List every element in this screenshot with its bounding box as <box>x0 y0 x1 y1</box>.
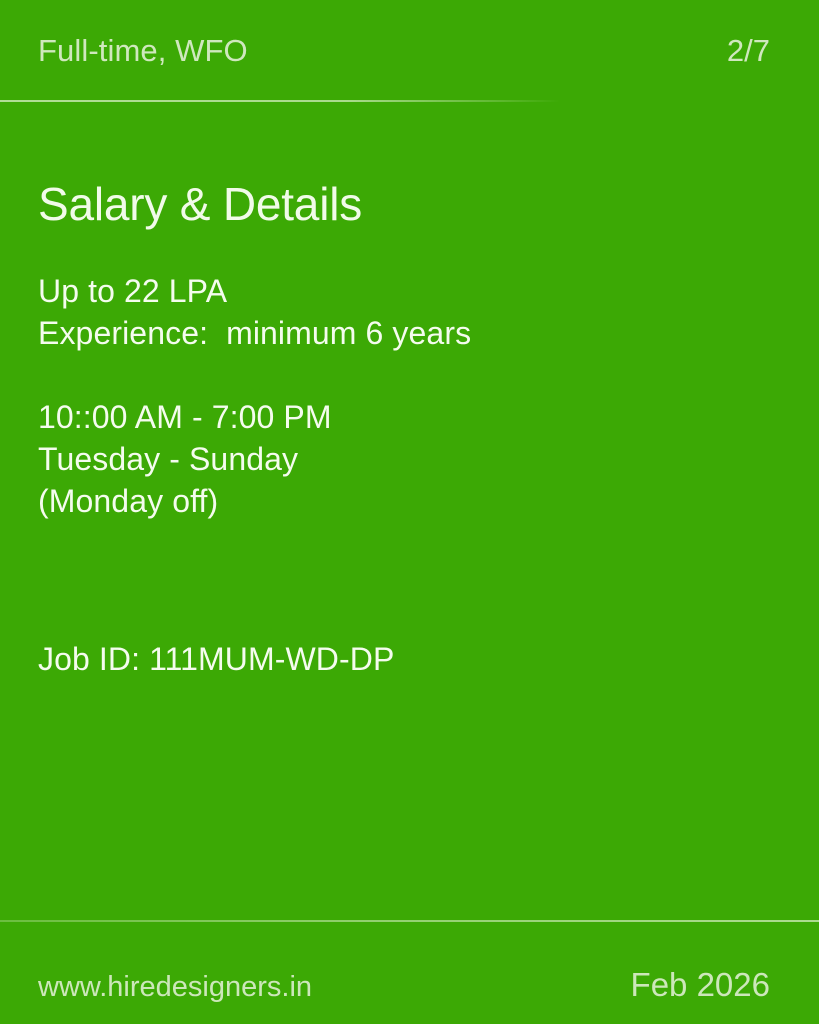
footer-website[interactable]: www.hiredesigners.in <box>38 968 312 1006</box>
slide-content: Salary & Details Up to 22 LPA Experience… <box>38 102 819 920</box>
job-id-line: Job ID: 111MUM-WD-DP <box>38 638 394 680</box>
slide-counter: 2/7 <box>727 30 770 72</box>
working-hours-line: 10::00 AM - 7:00 PM <box>38 396 332 438</box>
page-title: Salary & Details <box>38 176 362 232</box>
footer-divider <box>0 920 819 922</box>
salary-amount-line: Up to 22 LPA <box>38 270 471 312</box>
experience-line: Experience: minimum 6 years <box>38 312 471 354</box>
salary-block: Up to 22 LPA Experience: minimum 6 years <box>38 270 471 354</box>
schedule-block: 10::00 AM - 7:00 PM Tuesday - Sunday (Mo… <box>38 396 332 522</box>
weekly-off-line: (Monday off) <box>38 480 332 522</box>
working-days-line: Tuesday - Sunday <box>38 438 332 480</box>
slide-footer: www.hiredesigners.in Feb 2026 <box>0 920 819 1024</box>
slide-header: Full-time, WFO 2/7 <box>0 0 819 102</box>
slide: Full-time, WFO 2/7 Salary & Details Up t… <box>0 0 819 1024</box>
job-id-block: Job ID: 111MUM-WD-DP <box>38 638 394 680</box>
footer-date: Feb 2026 <box>631 964 770 1006</box>
header-employment-type: Full-time, WFO <box>38 30 248 72</box>
